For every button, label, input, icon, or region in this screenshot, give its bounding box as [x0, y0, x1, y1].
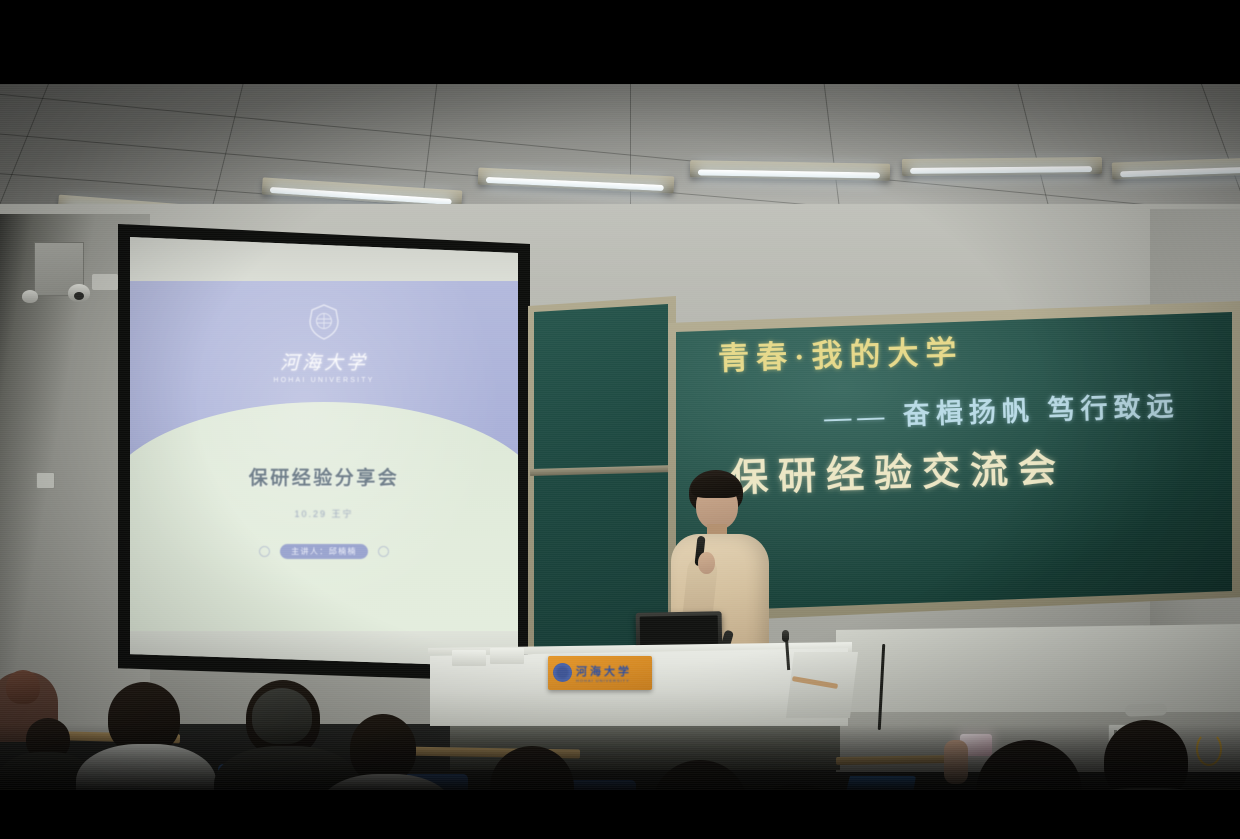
- screenshot-canvas: 河海大学 HOHAI UNIVERSITY 保研经验分享会 10.29 王宁 主…: [0, 0, 1240, 839]
- fluorescent-light-icon: [902, 157, 1102, 176]
- university-logo-block: 河海大学 HOHAI UNIVERSITY: [130, 303, 518, 384]
- slide-badge-row: 主讲人：邱楠楠: [130, 543, 518, 561]
- plaque-name-cn: 河海大学: [576, 663, 632, 679]
- podium-plaque: 河海大学 HOHAI UNIVERSITY: [548, 656, 652, 690]
- blackboard-line-3: 保研经验交流会: [729, 437, 1066, 502]
- center-blackboard: [534, 304, 668, 658]
- presentation-slide: 河海大学 HOHAI UNIVERSITY 保研经验分享会 10.29 王宁 主…: [130, 281, 518, 637]
- slide-title: 保研经验分享会: [130, 463, 518, 490]
- foreground-shadow: [0, 724, 1240, 790]
- presenter-fringe: [691, 476, 741, 498]
- decoration-dot-left: [259, 546, 270, 557]
- wall-sign: [92, 274, 118, 290]
- podium-equipment-box: [490, 648, 524, 664]
- slide-subtitle: 10.29 王宁: [130, 507, 518, 520]
- wall-conduit: [1125, 703, 1167, 716]
- audience-member: [6, 670, 40, 704]
- university-name-en: HOHAI UNIVERSITY: [130, 377, 518, 384]
- projector-screen: 河海大学 HOHAI UNIVERSITY 保研经验分享会 10.29 王宁 主…: [130, 237, 518, 667]
- microphone-icon: [782, 630, 789, 642]
- security-camera-icon: [22, 290, 38, 303]
- letterbox-bar-top: [0, 0, 1240, 84]
- power-outlet-icon: [36, 472, 55, 489]
- fluorescent-light-icon: [690, 160, 890, 180]
- podium-equipment-box: [452, 650, 486, 666]
- letterbox-bar-bottom: [0, 790, 1240, 839]
- university-name-cn: 河海大学: [130, 348, 518, 375]
- university-crest-icon: [307, 303, 341, 341]
- hohai-seal-icon: [553, 663, 572, 682]
- classroom-photo: 河海大学 HOHAI UNIVERSITY 保研经验分享会 10.29 王宁 主…: [0, 84, 1240, 790]
- slide-speaker-badge: 主讲人：邱楠楠: [280, 544, 368, 559]
- security-camera-icon: [68, 284, 90, 302]
- presenter-hand: [698, 552, 715, 574]
- blackboard-line-1: 青春·我的大学: [717, 327, 964, 379]
- plaque-name-en: HOHAI UNIVERSITY: [576, 678, 630, 683]
- decoration-dot-right: [378, 546, 389, 557]
